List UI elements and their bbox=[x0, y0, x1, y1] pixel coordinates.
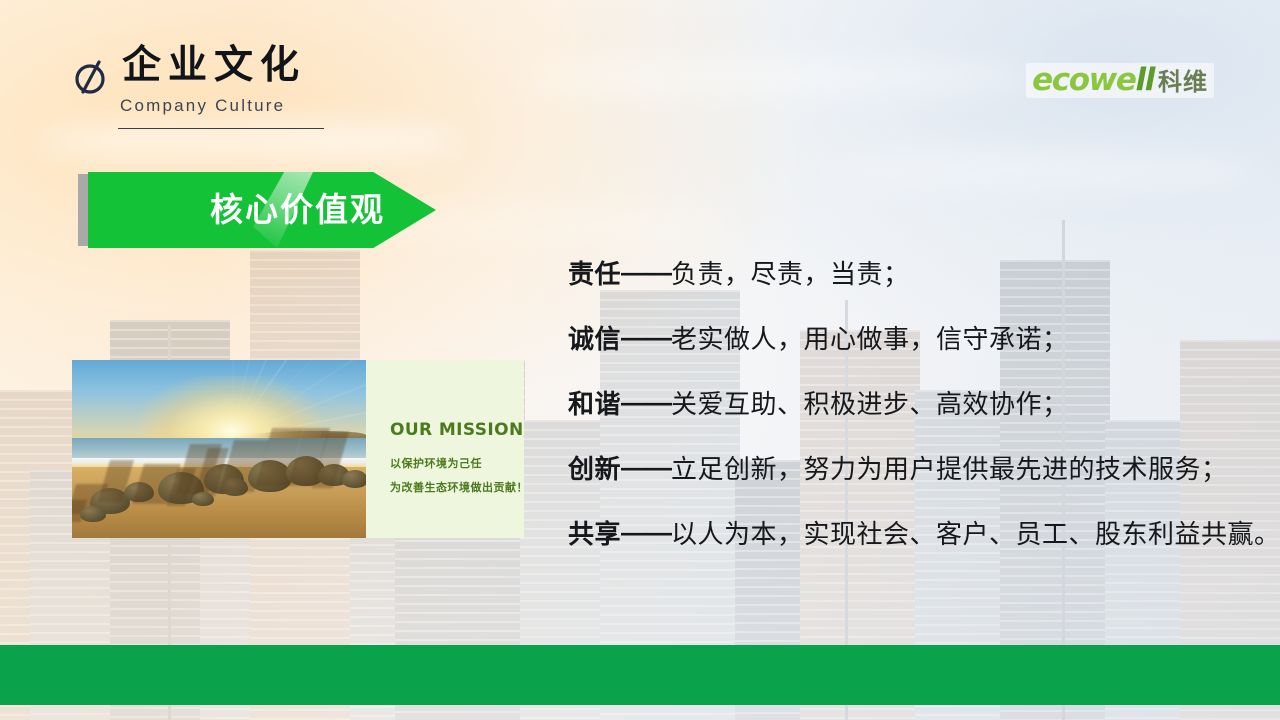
value-key: 和谐 bbox=[568, 384, 621, 421]
page-title: 企业文化 bbox=[122, 46, 306, 85]
core-values-banner: 核心价值观 bbox=[78, 172, 436, 248]
value-row: 和谐——关爱互助、积极进步、高效协作； bbox=[568, 370, 1258, 435]
footer-bar bbox=[0, 645, 1280, 705]
banner-label: 核心价值观 bbox=[210, 188, 385, 232]
mission-title: OUR MISSION bbox=[390, 420, 524, 440]
cloud-streak bbox=[520, 60, 1040, 94]
cloud-streak bbox=[840, 150, 1260, 190]
value-row: 诚信——老实做人，用心做事，信守承诺； bbox=[568, 305, 1258, 370]
value-row: 责任——负责，尽责，当责； bbox=[568, 240, 1258, 305]
mission-line-1: 以保护环境为己任 bbox=[390, 455, 482, 471]
mission-photo bbox=[72, 360, 366, 538]
value-dash: —— bbox=[621, 322, 671, 353]
slide-canvas: 企业文化 Company Culture ecowell 科维 核心价值观 OU… bbox=[0, 0, 1280, 720]
mission-text-panel: OUR MISSION 以保护环境为己任 为改善生态环境做出贡献！ bbox=[366, 360, 524, 538]
value-body: 立足创新，努力为用户提供最先进的技术服务； bbox=[671, 449, 1228, 486]
cloud-streak bbox=[40, 120, 460, 162]
value-key: 创新 bbox=[568, 449, 621, 486]
mission-card: OUR MISSION 以保护环境为己任 为改善生态环境做出贡献！ bbox=[72, 360, 524, 538]
core-values-list: 责任——负责，尽责，当责；诚信——老实做人，用心做事，信守承诺；和谐——关爱互助… bbox=[568, 240, 1258, 565]
ecowell-logo: ecowell 科维 bbox=[1026, 63, 1214, 98]
logo-wordmark-main: ecowe bbox=[1032, 62, 1135, 98]
value-dash: —— bbox=[621, 257, 671, 288]
photo-boulder bbox=[80, 506, 106, 522]
banner-left-tab bbox=[78, 174, 88, 246]
value-key: 共享 bbox=[568, 514, 621, 551]
value-body: 以人为本，实现社会、客户、员工、股东利益共赢。 bbox=[671, 514, 1280, 551]
title-divider bbox=[118, 128, 324, 129]
value-key: 诚信 bbox=[568, 319, 621, 356]
mission-line-2: 为改善生态环境做出贡献！ bbox=[390, 479, 528, 495]
slash-circle-icon bbox=[72, 57, 112, 97]
value-row: 共享——以人为本，实现社会、客户、员工、股东利益共赢。 bbox=[568, 500, 1258, 565]
value-dash: —— bbox=[621, 387, 671, 418]
value-dash: —— bbox=[621, 517, 671, 548]
logo-chinese-name: 科维 bbox=[1158, 71, 1208, 95]
logo-wordmark-accent: ll bbox=[1136, 62, 1154, 98]
value-body: 老实做人，用心做事，信守承诺； bbox=[671, 319, 1069, 356]
value-key: 责任 bbox=[568, 254, 621, 291]
page-subtitle: Company Culture bbox=[120, 96, 285, 116]
value-body: 关爱互助、积极进步、高效协作； bbox=[671, 384, 1069, 421]
photo-boulder bbox=[192, 492, 214, 506]
value-dash: —— bbox=[621, 452, 671, 483]
photo-boulder bbox=[342, 470, 366, 488]
value-body: 负责，尽责，当责； bbox=[671, 254, 910, 291]
value-row: 创新——立足创新，努力为用户提供最先进的技术服务； bbox=[568, 435, 1258, 500]
logo-wordmark: ecowell bbox=[1032, 65, 1154, 96]
